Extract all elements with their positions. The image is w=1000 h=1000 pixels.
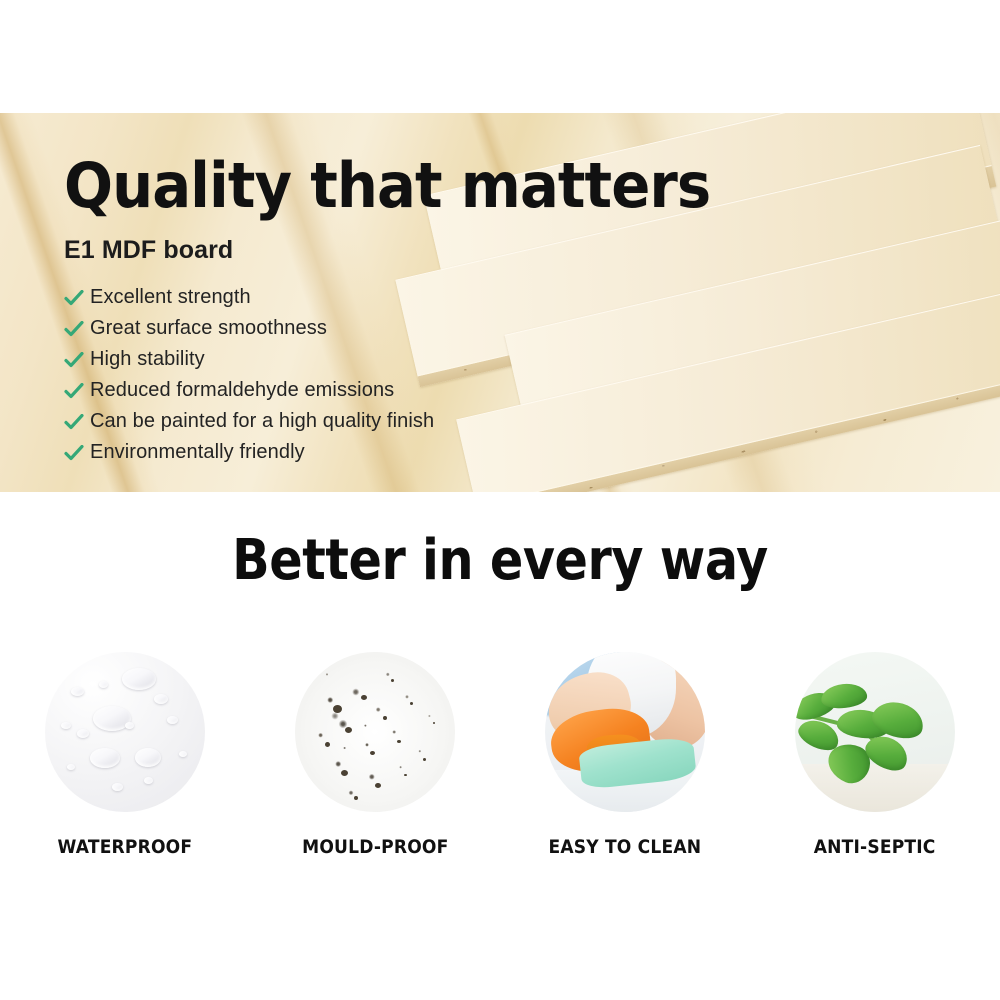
list-item: High stability (64, 344, 434, 375)
mould-spots-photo (295, 652, 455, 812)
benefit-mould-proof: MOULD-PROOF (250, 652, 500, 858)
benefit-caption: EASY TO CLEAN (549, 836, 702, 858)
feature-text: High stability (90, 348, 205, 371)
mould-proof-image (295, 652, 455, 812)
feature-text: Excellent strength (90, 286, 251, 309)
check-icon (64, 290, 90, 306)
benefit-caption: WATERPROOF (58, 836, 193, 858)
feature-text: Can be painted for a high quality finish (90, 410, 434, 433)
check-icon (64, 321, 90, 337)
green-leaves-photo (795, 652, 955, 812)
check-icon (64, 352, 90, 368)
waterproof-image (45, 652, 205, 812)
benefit-waterproof: WATERPROOF (0, 652, 250, 858)
list-item: Excellent strength (64, 282, 434, 313)
water-droplets-photo (45, 652, 205, 812)
check-icon (64, 445, 90, 461)
check-icon (64, 383, 90, 399)
benefit-caption: ANTI-SEPTIC (814, 836, 936, 858)
anti-septic-image (795, 652, 955, 812)
list-item: Great surface smoothness (64, 313, 434, 344)
benefits-row: WATERPROOF MOULD-PROOF (0, 652, 1000, 858)
check-icon (64, 414, 90, 430)
banner-subheadline: E1 MDF board (64, 236, 233, 265)
benefit-caption: MOULD-PROOF (302, 836, 448, 858)
list-item: Environmentally friendly (64, 437, 434, 468)
benefit-easy-to-clean: EASY TO CLEAN (500, 652, 750, 858)
feature-text: Environmentally friendly (90, 441, 305, 464)
feature-text: Great surface smoothness (90, 317, 327, 340)
easy-to-clean-image (545, 652, 705, 812)
feature-list: Excellent strength Great surface smoothn… (64, 282, 434, 468)
list-item: Reduced formaldehyde emissions (64, 375, 434, 406)
section-title: Better in every way (60, 528, 940, 593)
feature-text: Reduced formaldehyde emissions (90, 379, 394, 402)
gloved-hand-wiping-photo (545, 652, 705, 812)
banner-headline: Quality that matters (64, 155, 710, 217)
benefit-anti-septic: ANTI-SEPTIC (750, 652, 1000, 858)
list-item: Can be painted for a high quality finish (64, 406, 434, 437)
